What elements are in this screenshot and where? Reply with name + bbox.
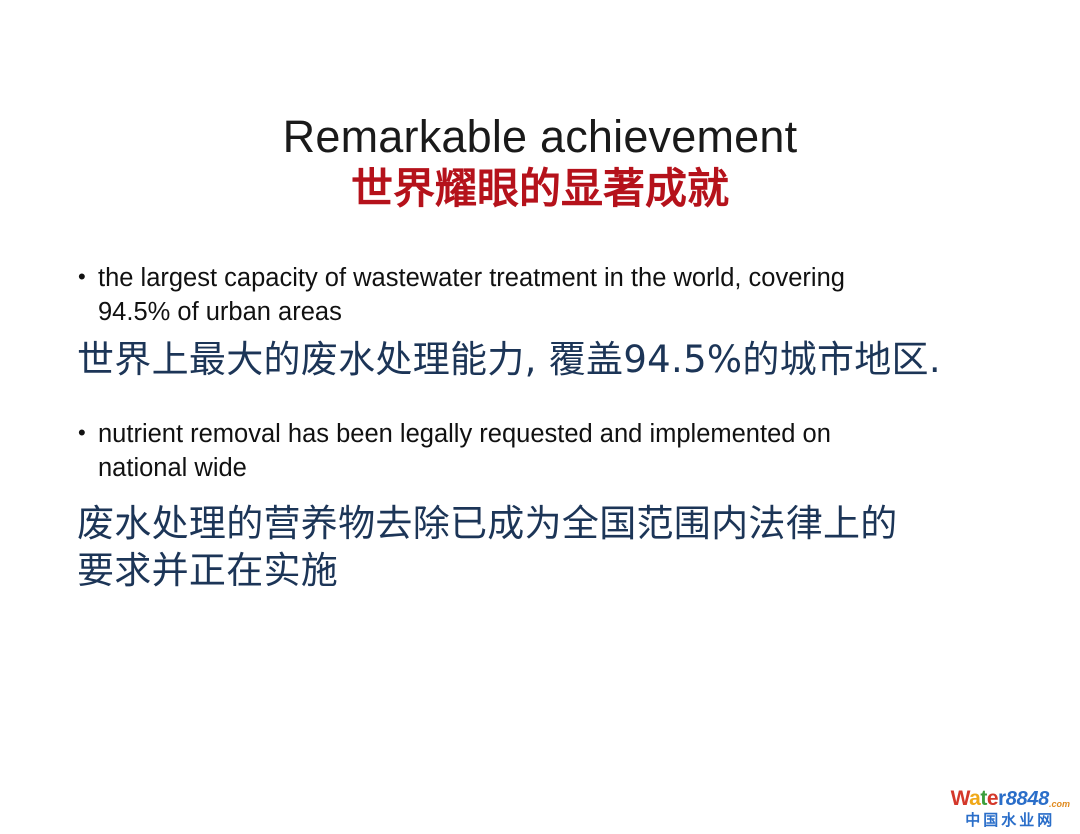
bullet-dot-icon: •	[78, 262, 98, 292]
watermark-letter-a: a	[969, 787, 980, 810]
bullet-row-1: • the largest capacity of wastewater tre…	[78, 262, 1018, 329]
bullet-point-2: • nutrient removal has been legally requ…	[78, 418, 1018, 595]
bullet-2-chinese: 废水处理的营养物去除已成为全国范围内法律上的 要求并正在实施	[77, 501, 1018, 594]
slide-canvas: Remarkable achievement 世界耀眼的显著成就 • the l…	[0, 0, 1080, 834]
bullet-text-2: nutrient removal has been legally reques…	[98, 418, 1018, 485]
bullet-1-english-line-2: 94.5% of urban areas	[98, 296, 1018, 330]
watermark-letter-w: W	[951, 787, 970, 810]
bullet-2-english-line-2: national wide	[98, 452, 1018, 486]
watermark-logo: Water8848.com 中国水业网	[951, 788, 1070, 828]
slide-title-block: Remarkable achievement 世界耀眼的显著成就	[0, 112, 1080, 214]
bullet-1-chinese: 世界上最大的废水处理能力, 覆盖94.5%的城市地区.	[77, 337, 1018, 384]
bullet-dot-icon: •	[78, 418, 98, 448]
watermark-tld: .com	[1049, 799, 1070, 809]
page-title-chinese: 世界耀眼的显著成就	[0, 164, 1080, 214]
bullet-1-chinese-line-1: 世界上最大的废水处理能力, 覆盖94.5%的城市地区.	[77, 337, 1018, 384]
bullet-text-1: the largest capacity of wastewater treat…	[98, 262, 1018, 329]
watermark-letter-r: r	[998, 787, 1006, 810]
bullet-1-english-line-1: the largest capacity of wastewater treat…	[98, 264, 845, 292]
watermark-letter-e: e	[987, 787, 998, 810]
watermark-brand: Water8848.com	[951, 788, 1070, 809]
bullet-point-1: • the largest capacity of wastewater tre…	[78, 262, 1018, 384]
bullet-2-english-line-1: nutrient removal has been legally reques…	[98, 420, 831, 448]
watermark-number: 8848	[1006, 788, 1049, 810]
bullet-2-chinese-line-2: 要求并正在实施	[77, 548, 1018, 595]
bullet-row-2: • nutrient removal has been legally requ…	[78, 418, 1018, 485]
bullet-2-chinese-line-1: 废水处理的营养物去除已成为全国范围内法律上的	[77, 501, 1018, 548]
watermark-subtitle: 中国水业网	[951, 813, 1070, 828]
page-title-english: Remarkable achievement	[0, 112, 1080, 162]
slide-body: • the largest capacity of wastewater tre…	[78, 262, 1018, 594]
